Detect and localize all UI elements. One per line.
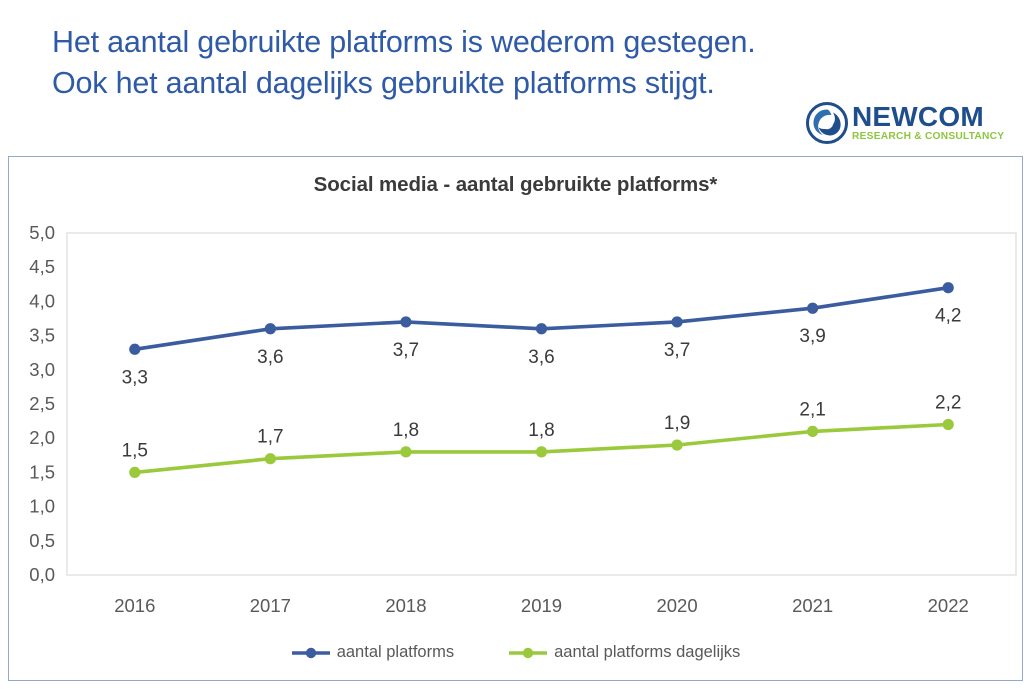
x-axis-tick-label: 2020 — [656, 595, 697, 616]
data-label-0-6: 4,2 — [935, 306, 961, 327]
logo-name: NEWCOM — [852, 102, 1024, 131]
y-axis-tick-label: 2,5 — [29, 393, 55, 414]
y-axis-tick-label: 4,5 — [29, 256, 55, 277]
series-point-0-1[interactable] — [265, 323, 276, 334]
line-chart-svg: 0,00,51,01,52,02,53,03,54,04,55,02016201… — [9, 157, 1024, 682]
x-axis-tick-label: 2021 — [792, 595, 833, 616]
legend-marker-blue-icon — [291, 646, 331, 660]
y-axis-tick-label: 4,0 — [29, 290, 55, 311]
series-point-0-4[interactable] — [671, 316, 682, 327]
logo-text: NEWCOM RESEARCH & CONSULTANCY — [852, 102, 1024, 143]
series-point-1-2[interactable] — [400, 446, 411, 457]
series-point-0-0[interactable] — [129, 344, 140, 355]
data-label-1-6: 2,2 — [935, 393, 961, 414]
legend-item-aantal-platforms-dagelijks[interactable]: aantal platforms dagelijks — [508, 643, 740, 662]
data-label-0-1: 3,6 — [257, 347, 283, 368]
x-axis-tick-label: 2017 — [250, 595, 291, 616]
logo-tagline: RESEARCH & CONSULTANCY — [852, 131, 1024, 143]
data-label-0-3: 3,6 — [528, 347, 554, 368]
legend-label-1: aantal platforms dagelijks — [554, 643, 740, 662]
series-point-1-1[interactable] — [265, 453, 276, 464]
series-line-0 — [135, 288, 948, 350]
x-axis-tick-label: 2018 — [385, 595, 426, 616]
x-axis-tick-label: 2022 — [928, 595, 969, 616]
y-axis-tick-label: 3,5 — [29, 325, 55, 346]
page-headline: Het aantal gebruikte platforms is wedero… — [52, 22, 792, 104]
data-label-0-4: 3,7 — [664, 340, 690, 361]
chart-legend: aantal platforms aantal platforms dageli… — [9, 643, 1022, 662]
series-point-1-6[interactable] — [943, 419, 954, 430]
data-label-1-3: 1,8 — [528, 420, 554, 441]
series-point-1-4[interactable] — [671, 439, 682, 450]
legend-item-aantal-platforms[interactable]: aantal platforms — [291, 643, 454, 662]
newcom-logo: NEWCOM RESEARCH & CONSULTANCY — [806, 100, 1024, 146]
newcom-swirl-icon — [806, 102, 848, 144]
data-label-1-2: 1,8 — [393, 420, 419, 441]
y-axis-tick-label: 3,0 — [29, 359, 55, 380]
series-point-1-3[interactable] — [536, 446, 547, 457]
series-point-0-6[interactable] — [943, 282, 954, 293]
data-label-0-2: 3,7 — [393, 340, 419, 361]
series-point-0-3[interactable] — [536, 323, 547, 334]
y-axis-tick-label: 1,0 — [29, 496, 55, 517]
series-point-1-5[interactable] — [807, 426, 818, 437]
legend-marker-green-icon — [508, 646, 548, 660]
y-axis-tick-label: 0,0 — [29, 564, 55, 585]
data-label-0-0: 3,3 — [122, 367, 148, 388]
data-label-0-5: 3,9 — [799, 326, 825, 347]
y-axis-tick-label: 2,0 — [29, 427, 55, 448]
y-axis-tick-label: 1,5 — [29, 461, 55, 482]
series-point-0-2[interactable] — [400, 316, 411, 327]
plot-border — [67, 233, 1016, 575]
x-axis-tick-label: 2016 — [114, 595, 155, 616]
y-axis-tick-label: 0,5 — [29, 530, 55, 551]
data-label-1-0: 1,5 — [122, 440, 148, 461]
page-header: Het aantal gebruikte platforms is wedero… — [0, 0, 1033, 150]
chart-card: Social media - aantal gebruikte platform… — [8, 156, 1023, 681]
data-label-1-5: 2,1 — [799, 399, 825, 420]
y-axis-tick-label: 5,0 — [29, 222, 55, 243]
chart-plot-area: 0,00,51,01,52,02,53,03,54,04,55,02016201… — [9, 157, 1024, 682]
data-label-1-1: 1,7 — [257, 427, 283, 448]
series-point-1-0[interactable] — [129, 467, 140, 478]
legend-label-0: aantal platforms — [337, 643, 454, 662]
x-axis-tick-label: 2019 — [521, 595, 562, 616]
series-point-0-5[interactable] — [807, 303, 818, 314]
data-label-1-4: 1,9 — [664, 413, 690, 434]
